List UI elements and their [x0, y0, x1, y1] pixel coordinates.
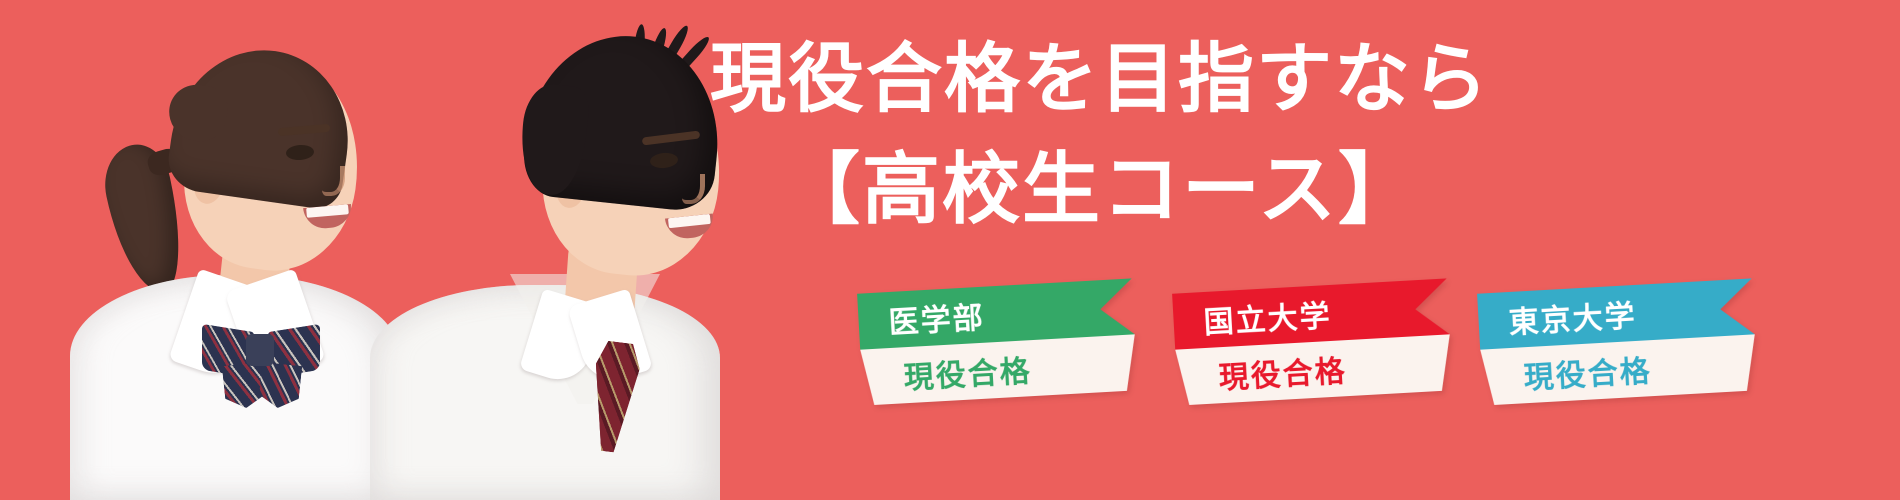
bow-tie-tail-right [258, 362, 302, 410]
badge-national-university: 国立大学 現役合格 [1172, 278, 1453, 405]
headline: 現役合格を目指すなら 【高校生コース】 [700, 42, 1500, 228]
headline-line-2: 【高校生コース】 [700, 150, 1500, 228]
course-promo-banner: 現役合格を目指すなら 【高校生コース】 医学部 現役合格 国立大学 現役合格 東… [0, 0, 1900, 500]
achievement-badge-group: 医学部 現役合格 国立大学 現役合格 東京大学 現役合格 [860, 286, 1780, 421]
striped-bow-tie [202, 322, 320, 408]
headline-line-1: 現役合格を目指すなら [700, 42, 1500, 118]
badge-tokyo-university: 東京大学 現役合格 [1477, 278, 1758, 405]
students-photo [0, 0, 720, 500]
badge-medical-faculty: 医学部 現役合格 [857, 278, 1138, 405]
bow-tie-knot [246, 334, 274, 366]
bow-tie-tail-left [222, 362, 266, 410]
male-student-figure [360, 30, 720, 500]
